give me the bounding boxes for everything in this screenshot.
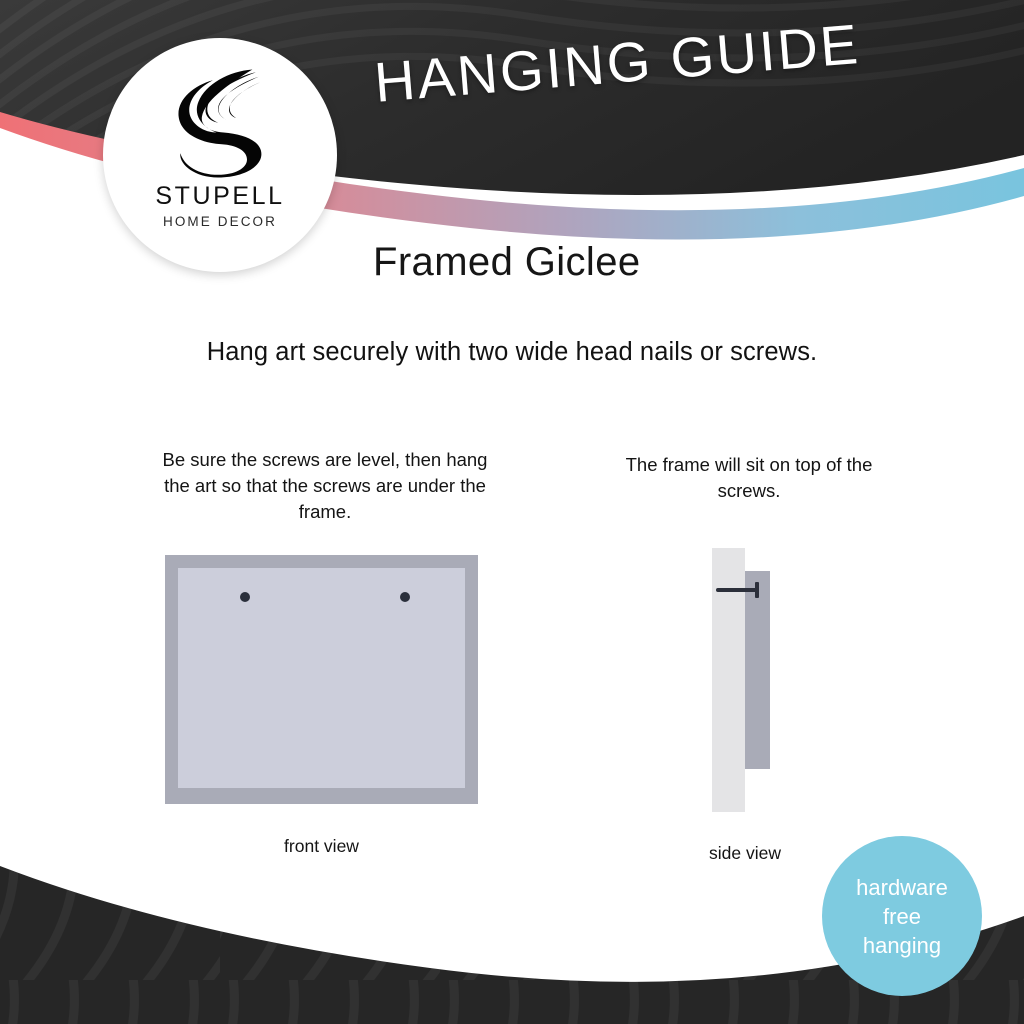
front-view-panel — [178, 568, 465, 788]
hardware-free-badge: hardware free hanging — [822, 836, 982, 996]
brand-logo-badge: STUPELL HOME DECOR — [103, 38, 337, 272]
product-title: Framed Giclee — [373, 240, 641, 285]
screw-dot-left-icon — [240, 592, 250, 602]
side-view-frame — [745, 571, 770, 769]
side-view-caption: The frame will sit on top of the screws. — [598, 452, 900, 504]
badge-line-3: hanging — [863, 931, 941, 960]
front-view-label: front view — [165, 836, 478, 857]
page-title: HANGING GUIDE — [372, 11, 862, 115]
logo-brand-name: STUPELL — [155, 182, 284, 211]
stupell-swirl-icon — [166, 60, 274, 178]
side-view-label: side view — [660, 843, 830, 864]
front-view-diagram — [165, 555, 478, 804]
logo-brand-subtitle: HOME DECOR — [163, 214, 277, 229]
side-view-diagram — [705, 548, 785, 816]
badge-line-2: free — [883, 902, 921, 931]
badge-line-1: hardware — [856, 873, 948, 902]
front-view-caption: Be sure the screws are level, then hang … — [160, 447, 490, 525]
screw-dot-right-icon — [400, 592, 410, 602]
hanging-guide-page: STUPELL HOME DECOR HANGING GUIDE Framed … — [0, 0, 1024, 1024]
main-instruction: Hang art securely with two wide head nai… — [0, 338, 1024, 367]
nail-head-icon — [755, 582, 759, 598]
nail-shaft-icon — [716, 588, 758, 592]
